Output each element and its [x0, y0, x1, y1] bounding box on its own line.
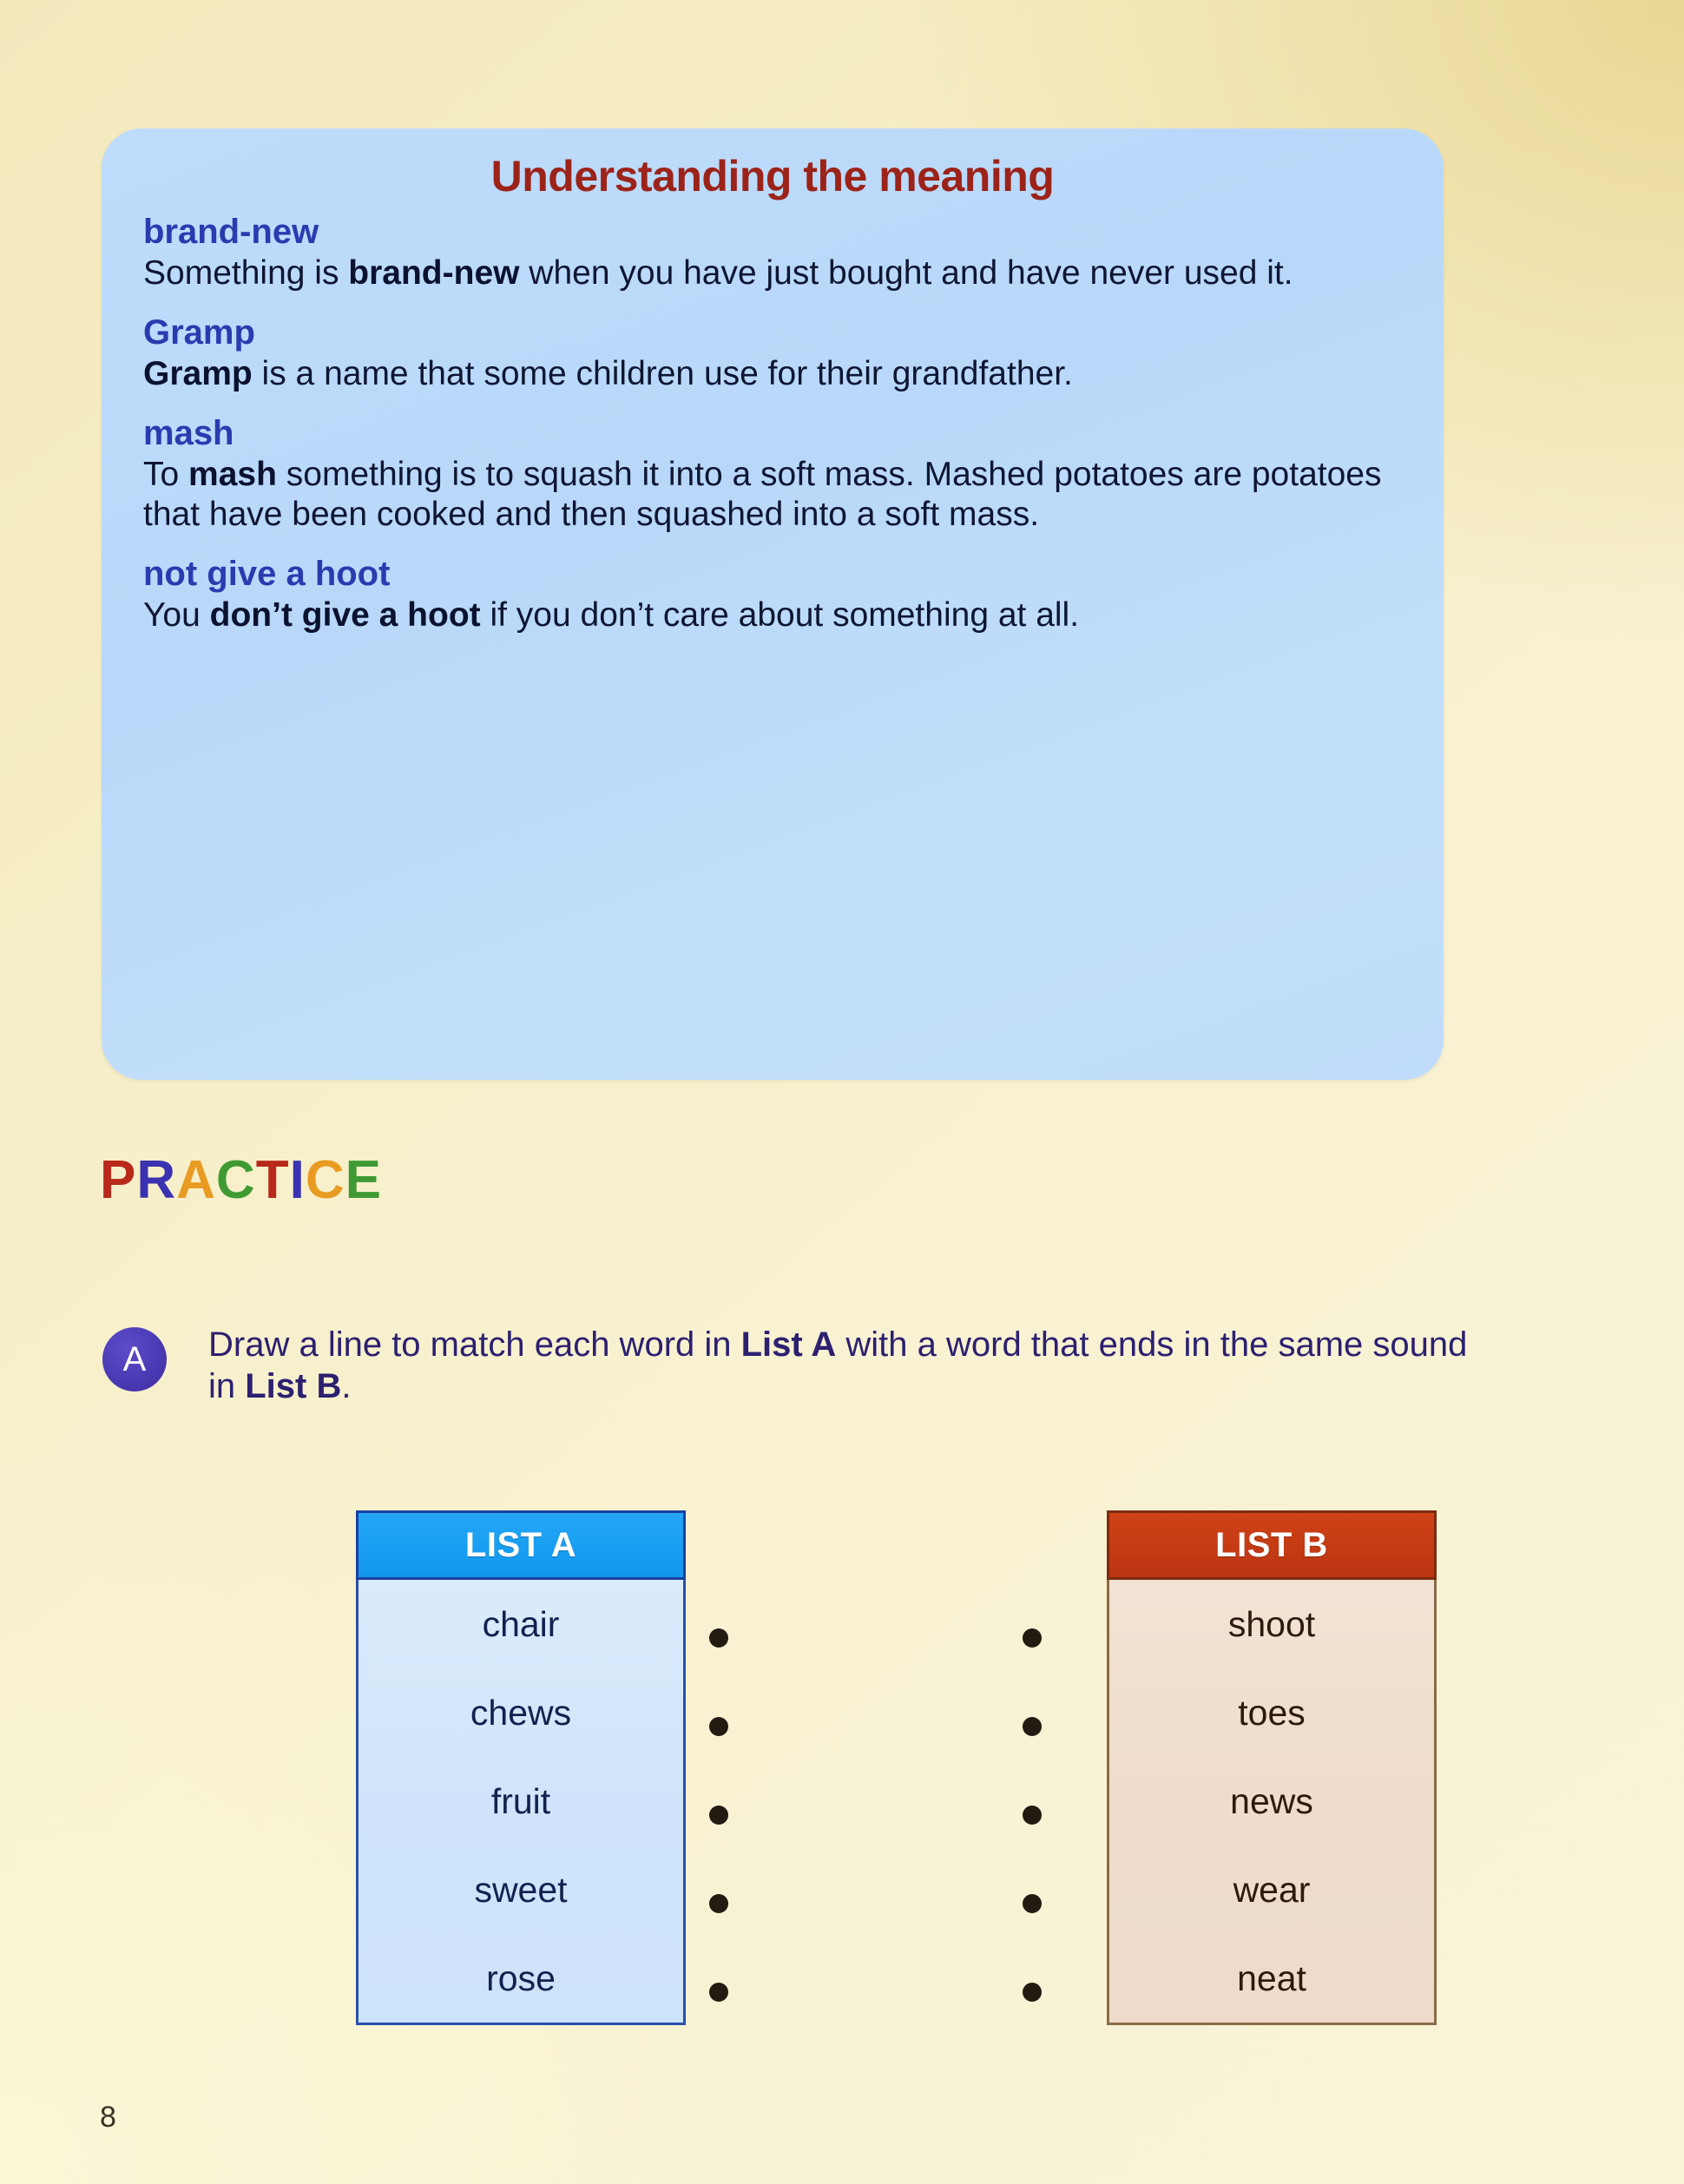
match-dot[interactable]: [1023, 1806, 1042, 1825]
list-item[interactable]: shoot: [1109, 1580, 1434, 1668]
definition-list: brand-new Something is brand-new when yo…: [102, 201, 1444, 635]
definition-text: Gramp is a name that some children use f…: [143, 354, 1407, 394]
practice-letter: A: [176, 1154, 216, 1207]
list-item[interactable]: chair: [359, 1580, 683, 1668]
meaning-card-title: Understanding the meaning: [102, 128, 1444, 201]
list-a-header: LIST A: [356, 1510, 686, 1580]
definition-entry-mash: mash To mash something is to squash it i…: [143, 413, 1407, 535]
definition-headword: mash: [143, 413, 1407, 453]
practice-letter: T: [256, 1154, 290, 1207]
definition-headword: Gramp: [143, 312, 1407, 352]
match-dots-right: [1023, 1628, 1045, 2071]
definition-text-post: something is to squash it into a soft ma…: [143, 456, 1381, 533]
match-dots-left: [709, 1628, 732, 2071]
match-dot[interactable]: [1023, 1628, 1042, 1648]
definition-text-bold: don’t give a hoot: [210, 596, 481, 634]
task-badge-a: A: [102, 1327, 167, 1391]
definition-text-post: if you don’t care about something at all…: [481, 596, 1079, 634]
definition-text: Something is brand-new when you have jus…: [143, 253, 1407, 293]
match-dot[interactable]: [1023, 1983, 1042, 2002]
list-a-box: LIST A chair chews fruit sweet rose: [356, 1510, 686, 2025]
practice-heading: PRACTICE: [100, 1154, 382, 1207]
definition-text-bold: mash: [188, 456, 277, 493]
definition-entry-gramp: Gramp Gramp is a name that some children…: [143, 312, 1407, 394]
exercise-a-instruction: A Draw a line to match each word in List…: [102, 1324, 1491, 1407]
list-item[interactable]: fruit: [359, 1757, 683, 1845]
match-dot[interactable]: [709, 1983, 728, 2002]
list-item[interactable]: sweet: [359, 1845, 683, 1934]
definition-text-pre: You: [143, 596, 210, 634]
practice-letter: P: [100, 1154, 136, 1207]
practice-letter: R: [136, 1154, 176, 1207]
practice-letter: E: [345, 1154, 382, 1207]
list-item[interactable]: wear: [1109, 1845, 1434, 1934]
instruction-part-3: .: [341, 1367, 351, 1405]
definition-entry-not-give-a-hoot: not give a hoot You don’t give a hoot if…: [143, 554, 1407, 635]
practice-letter: C: [216, 1154, 256, 1207]
understanding-the-meaning-card: Understanding the meaning brand-new Some…: [102, 128, 1444, 1080]
instruction-bold-list-b: List B: [245, 1367, 341, 1405]
practice-letter: I: [290, 1154, 306, 1207]
instruction-part-1: Draw a line to match each word in: [208, 1326, 741, 1364]
page-number: 8: [100, 2101, 116, 2135]
definition-text-post: when you have just bought and have never…: [519, 254, 1293, 292]
definition-headword: brand-new: [143, 212, 1407, 252]
definition-text-pre: To: [143, 456, 188, 493]
list-b-header: LIST B: [1107, 1510, 1437, 1580]
list-a-items: chair chews fruit sweet rose: [356, 1580, 686, 2025]
list-b-box: LIST B shoot toes news wear neat: [1107, 1510, 1437, 2025]
match-dot[interactable]: [709, 1806, 728, 1825]
list-item[interactable]: neat: [1109, 1934, 1434, 2023]
match-dot[interactable]: [709, 1628, 728, 1648]
definition-text-bold: Gramp: [143, 355, 253, 392]
definition-text-post: is a name that some children use for the…: [253, 355, 1073, 392]
list-b-items: shoot toes news wear neat: [1107, 1580, 1437, 2025]
list-item[interactable]: rose: [359, 1934, 683, 2023]
definition-text-pre: Something is: [143, 254, 348, 292]
definition-entry-brand-new: brand-new Something is brand-new when yo…: [143, 212, 1407, 293]
definition-text: To mash something is to squash it into a…: [143, 455, 1407, 534]
worksheet-page: Understanding the meaning brand-new Some…: [0, 0, 1684, 2184]
definition-text: You don’t give a hoot if you don’t care …: [143, 595, 1407, 635]
match-dot[interactable]: [1023, 1894, 1042, 1913]
list-item[interactable]: news: [1109, 1757, 1434, 1845]
definition-headword: not give a hoot: [143, 554, 1407, 594]
instruction-text: Draw a line to match each word in List A…: [208, 1324, 1484, 1407]
definition-text-bold: brand-new: [348, 254, 519, 292]
match-dot[interactable]: [1023, 1717, 1042, 1736]
practice-letter: C: [306, 1154, 345, 1207]
list-item[interactable]: toes: [1109, 1668, 1434, 1757]
list-item[interactable]: chews: [359, 1668, 683, 1757]
instruction-bold-list-a: List A: [741, 1326, 837, 1364]
match-dot[interactable]: [709, 1894, 728, 1913]
match-dot[interactable]: [709, 1717, 728, 1736]
